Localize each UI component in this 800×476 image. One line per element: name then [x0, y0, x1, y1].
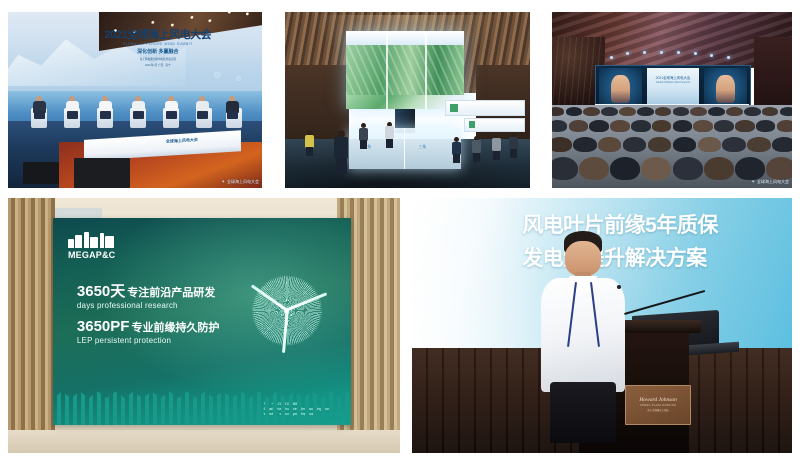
contact-block: Tel：+86-21-59100888 E-mail：zhanghuiyimin…: [264, 402, 331, 417]
screen-left-closeup: [599, 68, 642, 108]
speaker-podium-photo: 风电叶片前缘5年质保 发电量提升解决方案 Lenovo Howard Johns…: [412, 198, 792, 453]
hall-photo-inner: 2021全球海上风电大会 Global Offshore Wind Summit: [552, 12, 792, 188]
megapc-logo: MEGAP&C: [68, 231, 145, 260]
stage-banner-text: 2021全球海上风电大会 GLOBAL OFFSHORE WIND SUMMIT…: [84, 30, 231, 67]
audience-hall-photo: 2021全球海上风电大会 Global Offshore Wind Summit: [552, 12, 792, 188]
led-cube-top-face: [346, 31, 464, 45]
panel-discussion-photo: 2021全球海上风电大会 GLOBAL OFFSHORE WIND SUMMIT…: [8, 12, 262, 188]
led-cube-display: [346, 31, 464, 108]
audience-row-front: [552, 157, 792, 180]
visitor: [472, 136, 481, 162]
exhibit-banner: [445, 100, 525, 116]
claim-line-2-en: LEP persistent protection: [77, 336, 232, 345]
wind-turbine-icon: ⚙: [213, 70, 221, 81]
audience-row: [552, 107, 792, 116]
panelist: [33, 96, 46, 118]
panelist: [196, 96, 209, 118]
speaker-face-2: [716, 75, 735, 103]
turbine-logo-icon: ⚘: [751, 179, 755, 184]
screen-title-cn: 2021全球海上风电大会: [651, 75, 695, 80]
turbine-logo-icon: ⚘: [221, 179, 225, 184]
logo-building-bars: [68, 231, 145, 248]
presenter-trousers: [550, 382, 617, 443]
plaque-hotel-sub-cn: 南宁金源豪生大酒店: [647, 408, 669, 412]
claim-line-1-en: days professional research: [77, 301, 232, 310]
speaker-photo-inner: 风电叶片前缘5年质保 发电量提升解决方案 Lenovo Howard Johns…: [412, 198, 792, 453]
presenter-shirt: [541, 278, 625, 392]
visitor-foreground: [334, 130, 348, 174]
contact-website: Website： www.megacoatings.com: [264, 412, 331, 417]
visitor: [509, 132, 518, 158]
stage-monitor-speaker-2: [74, 158, 130, 188]
visitor: [359, 123, 368, 149]
audience-row: [552, 120, 792, 132]
presenter-head: [565, 241, 602, 276]
claim-line-1: 3650天专注前沿产品研发: [77, 284, 232, 300]
stage-monitor-speaker: [23, 162, 59, 185]
visitor: [492, 134, 501, 160]
lobby-photo-inner: 三象 三象: [285, 12, 530, 188]
event-watermark: ⚘全球海上风电大会: [751, 179, 789, 185]
podium-logo-text-right: 三象: [419, 144, 427, 150]
visitor: [305, 130, 314, 156]
backdrop-claims: 3650天专注前沿产品研发 days professional research…: [77, 284, 232, 345]
megapc-backdrop-photo: MEGAP&C 3650天专注前沿产品研发 days professional …: [8, 198, 400, 453]
audience-seating: [552, 105, 792, 188]
turbine-hub: [284, 308, 289, 313]
curtain-left: [8, 198, 55, 453]
lobby-cube-photo: 三象 三象: [285, 12, 530, 188]
plaque-hotel-sub-en: CHENG PLAZA NANNING: [640, 404, 676, 407]
screen-center-title: 2021全球海上风电大会 Global Offshore Wind Summit: [647, 68, 699, 108]
panelist: [165, 96, 178, 118]
banner-slogan: 深化创新 多赢融合: [84, 48, 231, 55]
banner-subtitle: 海上风电助力碳中和愿景和实现: [84, 57, 231, 61]
room-floor: [8, 430, 400, 453]
led-cube-front-face: [346, 45, 464, 95]
audience-row: [552, 137, 792, 152]
banner-date-place: 2021年1月 广西 · 南宁: [84, 63, 231, 67]
exhibit-banner-2: [464, 118, 525, 132]
exhibition-backdrop-board: MEGAP&C 3650天专注前沿产品研发 days professional …: [53, 218, 351, 425]
panelist: [132, 96, 145, 118]
banner-title: 2021全球海上风电大会: [84, 30, 231, 41]
wind-turbine-icon-2: ⚙: [235, 75, 241, 83]
turbine-rotor-graphic: [241, 260, 333, 361]
microphone-head: [617, 285, 621, 289]
photo-collage: 2021全球海上风电大会 GLOBAL OFFSHORE WIND SUMMIT…: [0, 0, 800, 476]
visitor: [452, 137, 461, 163]
contact-tel: Tel：+86-21-59100888: [264, 402, 331, 407]
claim-line-2: 3650PF专业前缘持久防护: [77, 319, 232, 335]
screen-title-en: Global Offshore Wind Summit: [651, 81, 695, 84]
screen-right-closeup: [704, 68, 747, 108]
backdrop-photo-inner: MEGAP&C 3650天专注前沿产品研发 days professional …: [8, 198, 400, 453]
presenter: [541, 231, 625, 435]
panel-photo-inner: 2021全球海上风电大会 GLOBAL OFFSHORE WIND SUMMIT…: [8, 12, 262, 188]
brand-name: MEGAP&C: [68, 250, 145, 260]
banner-title-en: GLOBAL OFFSHORE WIND SUMMIT: [84, 42, 231, 46]
contact-email: E-mail：zhanghuiyiming@megacoatings.com: [264, 407, 331, 412]
panelist: [226, 96, 239, 118]
lectern-plaque: Howard Johnson CHENG PLAZA NANNING 南宁金源豪…: [625, 385, 692, 425]
speaker-face: [611, 75, 630, 103]
plaque-hotel-name: Howard Johnson: [639, 397, 677, 403]
event-watermark: ⚘全球海上风电大会: [221, 179, 259, 185]
panelist: [99, 96, 112, 118]
front-desk-logo-text: 全球海上风电大会: [166, 137, 198, 145]
panelist: [66, 96, 79, 118]
visitor: [385, 122, 394, 148]
